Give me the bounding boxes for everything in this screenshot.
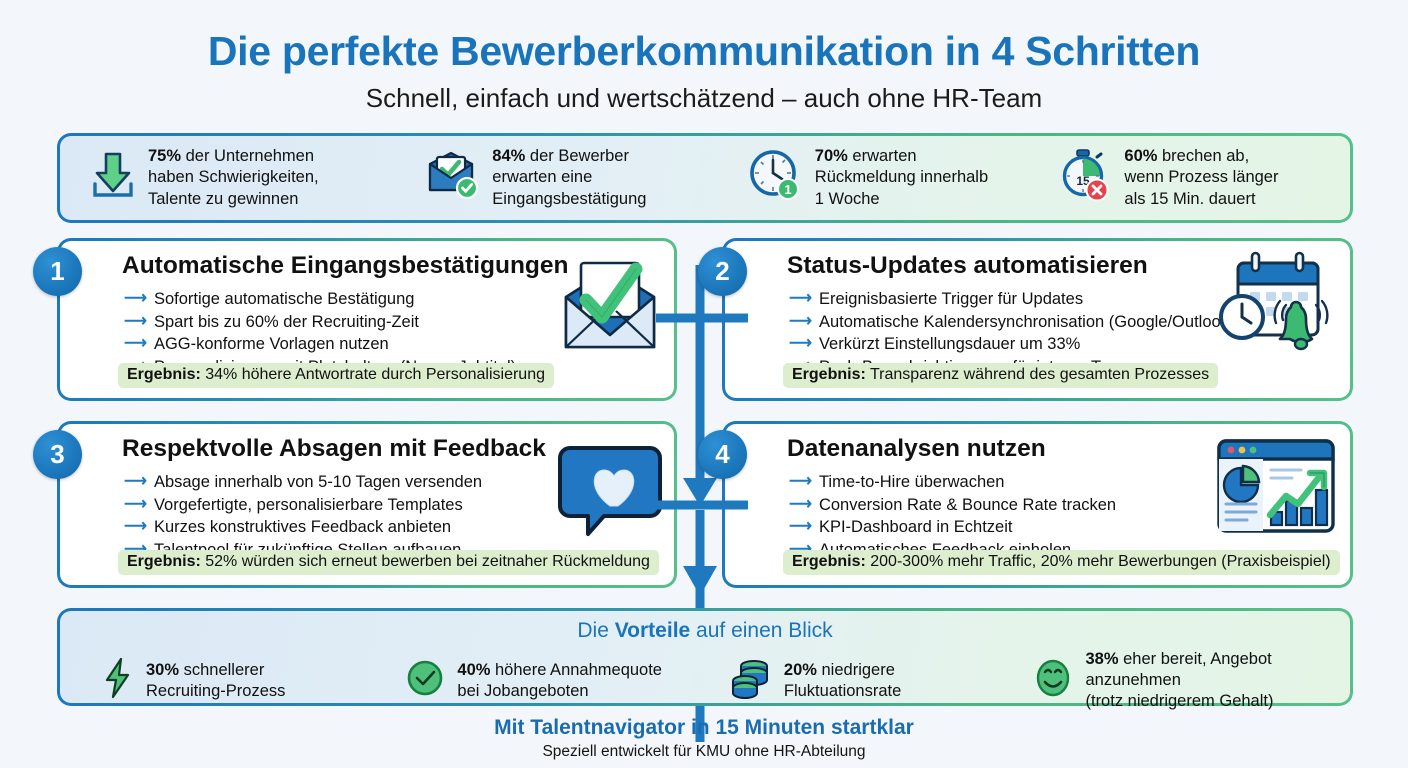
bullet-item: ⟶Sofortige automatische Bestätigung (124, 288, 516, 311)
step-number-badge-2: 2 (698, 247, 747, 296)
benefit-text-2: 20% niedrigere Fluktuationsrate (784, 660, 901, 702)
bullet-item: ⟶Ereignisbasierte Trigger für Updates (789, 288, 1234, 311)
coins-stack-icon (730, 657, 772, 704)
stat-item-2: 1 70% erwarten Rückmeldung innerhalb 1 W… (731, 146, 1041, 209)
step-card-3: 3 Respektvolle Absagen mit Feedback ⟶Abs… (57, 421, 677, 588)
stopwatch-x-icon: 15 (1058, 148, 1112, 207)
arrow-right-icon: ⟶ (124, 497, 147, 513)
bullet-item: ⟶Vorgefertigte, personalisierbare Templa… (124, 494, 482, 517)
bullet-item: ⟶Time-to-Hire überwachen (789, 471, 1116, 494)
step-card-2: 2 Status-Updates automatisieren ⟶Ereigni… (722, 238, 1353, 401)
arrow-right-icon: ⟶ (124, 519, 147, 535)
bullet-item: ⟶Spart bis zu 60% der Recruiting-Zeit (124, 311, 516, 334)
step-number-badge-4: 4 (698, 430, 747, 479)
benefits-title: Die Vorteile auf einen Blick (60, 619, 1350, 643)
bullet-item: ⟶Kurzes konstruktives Feedback anbieten (124, 516, 482, 539)
clock-one-icon: 1 (749, 149, 803, 206)
bullet-item: ⟶Verkürzt Einstellungsdauer um 33% (789, 333, 1234, 356)
stat-text-3: 60% brechen ab, wenn Prozess länger als … (1124, 146, 1278, 209)
svg-text:1: 1 (784, 182, 791, 197)
footer-headline: Mit Talentnavigator in 15 Minuten startk… (0, 716, 1408, 740)
step-result-2: Ergebnis: Transparenz während des gesamt… (783, 363, 1218, 388)
step-title-2: Status-Updates automatisieren (787, 252, 1148, 280)
stat-item-0: 75% der Unternehmen haben Schwierigkeite… (60, 146, 408, 209)
arrow-right-icon: ⟶ (789, 519, 812, 535)
speech-bubble-heart-icon (558, 442, 662, 545)
arrow-right-icon: ⟶ (124, 336, 147, 352)
stat-text-0: 75% der Unternehmen haben Schwierigkeite… (148, 146, 319, 209)
envelope-check-icon (426, 150, 480, 205)
bullet-item: ⟶KPI-Dashboard in Echtzeit (789, 516, 1116, 539)
stat-value-0: 75% (148, 147, 181, 165)
stat-item-1: 84% der Bewerber erwarten eine Eingangsb… (408, 146, 731, 209)
benefit-text-0: 30% schnellerer Recruiting-Prozess (146, 660, 285, 702)
benefit-item-3: 38% eher bereit, Angebot anzunehmen (tro… (1027, 649, 1350, 712)
page-subtitle: Schnell, einfach und wertschätzend – auc… (0, 83, 1408, 114)
bullet-item: ⟶Conversion Rate & Bounce Rate tracken (789, 494, 1116, 517)
step-result-1: Ergebnis: 34% höhere Antwortrate durch P… (118, 363, 554, 388)
infographic-root: Die perfekte Bewerberkommunikation in 4 … (0, 0, 1408, 768)
benefit-text-1: 40% höhere Annahmequote bei Jobangeboten (457, 660, 662, 702)
step-result-4: Ergebnis: 200-300% mehr Traffic, 20% meh… (783, 550, 1340, 575)
step-bullets-3: ⟶Absage innerhalb von 5-10 Tagen versend… (124, 471, 482, 561)
benefits-bar: Die Vorteile auf einen Blick 30% schnell… (57, 608, 1353, 706)
step-card-4: 4 Datenanalysen nutzen ⟶Time-to-Hire übe… (722, 421, 1353, 588)
step-bullets-4: ⟶Time-to-Hire überwachen ⟶Conversion Rat… (789, 471, 1116, 561)
step-number-badge-1: 1 (33, 247, 82, 296)
arrow-right-icon: ⟶ (789, 474, 812, 490)
stat-value-2: 70% (815, 147, 848, 165)
step-card-1: 1 Automatische Eingangsbestätigungen ⟶So… (57, 238, 677, 401)
stat-value-1: 84% (492, 147, 525, 165)
arrow-right-icon: ⟶ (789, 314, 812, 330)
stat-value-3: 60% (1124, 147, 1157, 165)
benefit-item-1: 40% höhere Annahmequote bei Jobangeboten (395, 658, 718, 703)
stat-item-3: 15 60% brechen ab, wenn Prozess länger a… (1040, 146, 1350, 209)
footer-subline: Speziell entwickelt für KMU ohne HR-Abte… (0, 743, 1408, 761)
step-title-3: Respektvolle Absagen mit Feedback (122, 435, 546, 463)
download-arrow-icon (90, 150, 136, 205)
bullet-item: ⟶Automatische Kalendersynchronisation (G… (789, 311, 1234, 334)
bullet-item: ⟶Absage innerhalb von 5-10 Tagen versend… (124, 471, 482, 494)
step-result-3: Ergebnis: 52% würden sich erneut bewerbe… (118, 550, 659, 575)
lightning-bolt-icon (102, 657, 134, 704)
page-title: Die perfekte Bewerberkommunikation in 4 … (0, 28, 1408, 75)
arrow-right-icon: ⟶ (789, 336, 812, 352)
step-number-badge-3: 3 (33, 430, 82, 479)
stat-text-2: 70% erwarten Rückmeldung innerhalb 1 Woc… (815, 146, 988, 209)
step-title-4: Datenanalysen nutzen (787, 435, 1046, 463)
arrow-right-icon: ⟶ (789, 291, 812, 307)
dashboard-chart-icon (1216, 438, 1336, 539)
benefit-item-0: 30% schnellerer Recruiting-Prozess (60, 657, 395, 704)
benefit-item-2: 20% niedrigere Fluktuationsrate (718, 657, 1028, 704)
stat-text-1: 84% der Bewerber erwarten eine Eingangsb… (492, 146, 646, 209)
benefit-text-3: 38% eher bereit, Angebot anzunehmen (tro… (1085, 649, 1350, 712)
open-envelope-check-icon (552, 253, 668, 363)
bullet-item: ⟶AGG-konforme Vorlagen nutzen (124, 333, 516, 356)
arrow-right-icon: ⟶ (124, 314, 147, 330)
arrow-right-icon: ⟶ (124, 291, 147, 307)
smiley-face-icon (1033, 657, 1073, 704)
statistics-bar: 75% der Unternehmen haben Schwierigkeite… (57, 133, 1353, 223)
arrow-right-icon: ⟶ (789, 497, 812, 513)
arrow-right-icon: ⟶ (124, 474, 147, 490)
check-circle-icon (405, 658, 445, 703)
step-title-1: Automatische Eingangsbestätigungen (122, 252, 569, 280)
calendar-clock-bell-icon (1212, 251, 1342, 364)
